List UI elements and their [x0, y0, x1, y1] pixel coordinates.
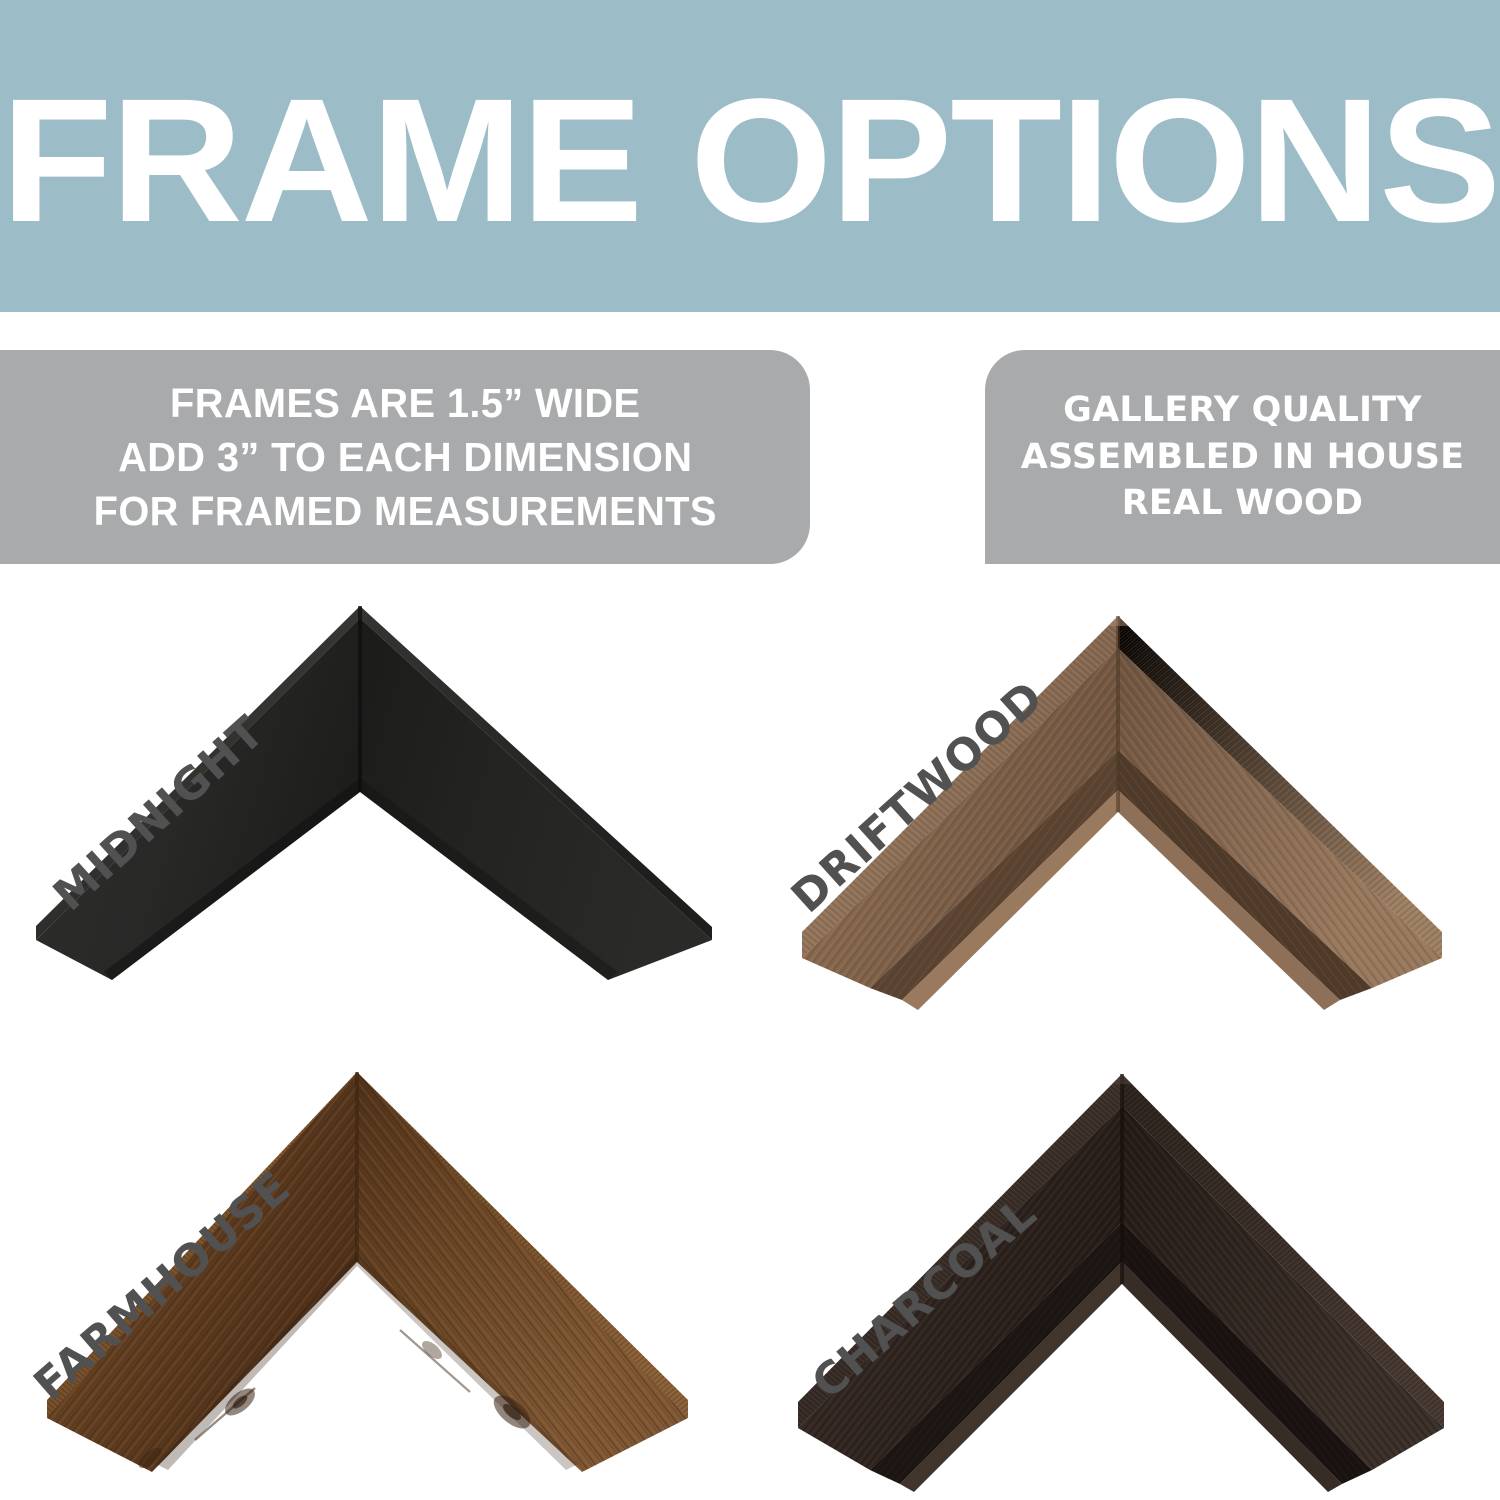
midnight-frame-corner-icon: [0, 580, 750, 1050]
frame-sample-farmhouse[interactable]: FARMHOUSE: [0, 1040, 750, 1500]
page-title: FRAME OPTIONS: [0, 0, 1500, 312]
measurements-line-3: FOR FRAMED MEASUREMENTS: [93, 484, 716, 538]
charcoal-frame-corner-icon: [750, 1040, 1500, 1500]
info-box-quality-text: GALLERY QUALITY ASSEMBLED IN HOUSE REAL …: [1021, 387, 1464, 528]
info-box-measurements-text: FRAMES ARE 1.5” WIDE ADD 3” TO EACH DIME…: [93, 376, 716, 538]
quality-line-3: REAL WOOD: [1021, 480, 1464, 527]
header-banner: FRAME OPTIONS: [0, 0, 1500, 312]
frame-options-infographic: FRAME OPTIONS FRAMES ARE 1.5” WIDE ADD 3…: [0, 0, 1500, 1500]
measurements-line-2: ADD 3” TO EACH DIMENSION: [93, 430, 716, 484]
quality-line-2: ASSEMBLED IN HOUSE: [1021, 434, 1464, 481]
info-box-measurements: FRAMES ARE 1.5” WIDE ADD 3” TO EACH DIME…: [0, 350, 810, 564]
measurements-line-1: FRAMES ARE 1.5” WIDE: [93, 376, 716, 430]
info-box-quality: GALLERY QUALITY ASSEMBLED IN HOUSE REAL …: [985, 350, 1500, 564]
frame-sample-midnight[interactable]: MIDNIGHT: [0, 580, 750, 1050]
farmhouse-frame-corner-icon: [0, 1040, 750, 1500]
quality-line-1: GALLERY QUALITY: [1021, 387, 1464, 434]
frame-sample-driftwood[interactable]: DRIFTWOOD: [750, 580, 1500, 1050]
frame-sample-charcoal[interactable]: CHARCOAL: [750, 1040, 1500, 1500]
